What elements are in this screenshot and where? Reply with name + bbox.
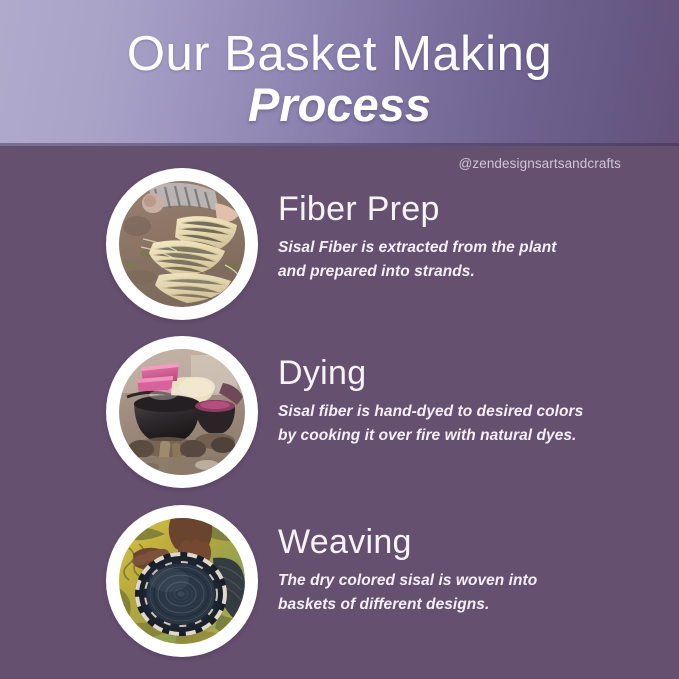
step-text-block: Dying Sisal fiber is hand-dyed to desire… <box>278 336 658 448</box>
step-title: Weaving <box>278 505 658 561</box>
step-text-block: Weaving The dry colored sisal is woven i… <box>278 505 658 617</box>
basket-weaving-hands-photo <box>119 518 245 644</box>
process-step-fiber-prep: Fiber Prep Sisal Fiber is extracted from… <box>0 168 679 334</box>
step-description: The dry colored sisal is woven into bask… <box>278 569 658 617</box>
step-description-line-1: The dry colored sisal is woven into <box>278 569 658 593</box>
step-title: Dying <box>278 336 658 392</box>
sisal-fiber-extraction-photo <box>119 181 245 307</box>
page-title-line-1: Our Basket Making <box>0 30 679 79</box>
step-description-line-2: by cooking it over fire with natural dye… <box>278 424 658 448</box>
page-title-line-2: Process <box>0 80 679 129</box>
step-title: Fiber Prep <box>278 168 658 228</box>
step-description-line-1: Sisal Fiber is extracted from the plant <box>278 236 658 260</box>
photo-ring <box>106 505 258 657</box>
step-description: Sisal fiber is hand-dyed to desired colo… <box>278 400 658 448</box>
step-description-line-2: baskets of different designs. <box>278 593 658 617</box>
process-step-weaving: Weaving The dry colored sisal is woven i… <box>0 505 679 671</box>
photo-ring <box>106 168 258 320</box>
step-description-line-2: and prepared into strands. <box>278 260 658 284</box>
step-text-block: Fiber Prep Sisal Fiber is extracted from… <box>278 168 658 284</box>
poster-header: Our Basket Making Process <box>0 0 679 146</box>
process-step-dying: Dying Sisal fiber is hand-dyed to desire… <box>0 336 679 502</box>
poster-canvas: Our Basket Making Process @zendesignsart… <box>0 0 679 679</box>
step-description: Sisal Fiber is extracted from the plant … <box>278 236 658 284</box>
photo-ring <box>106 336 258 488</box>
step-description-line-1: Sisal fiber is hand-dyed to desired colo… <box>278 400 658 424</box>
fiber-dying-over-fire-photo <box>119 349 245 475</box>
